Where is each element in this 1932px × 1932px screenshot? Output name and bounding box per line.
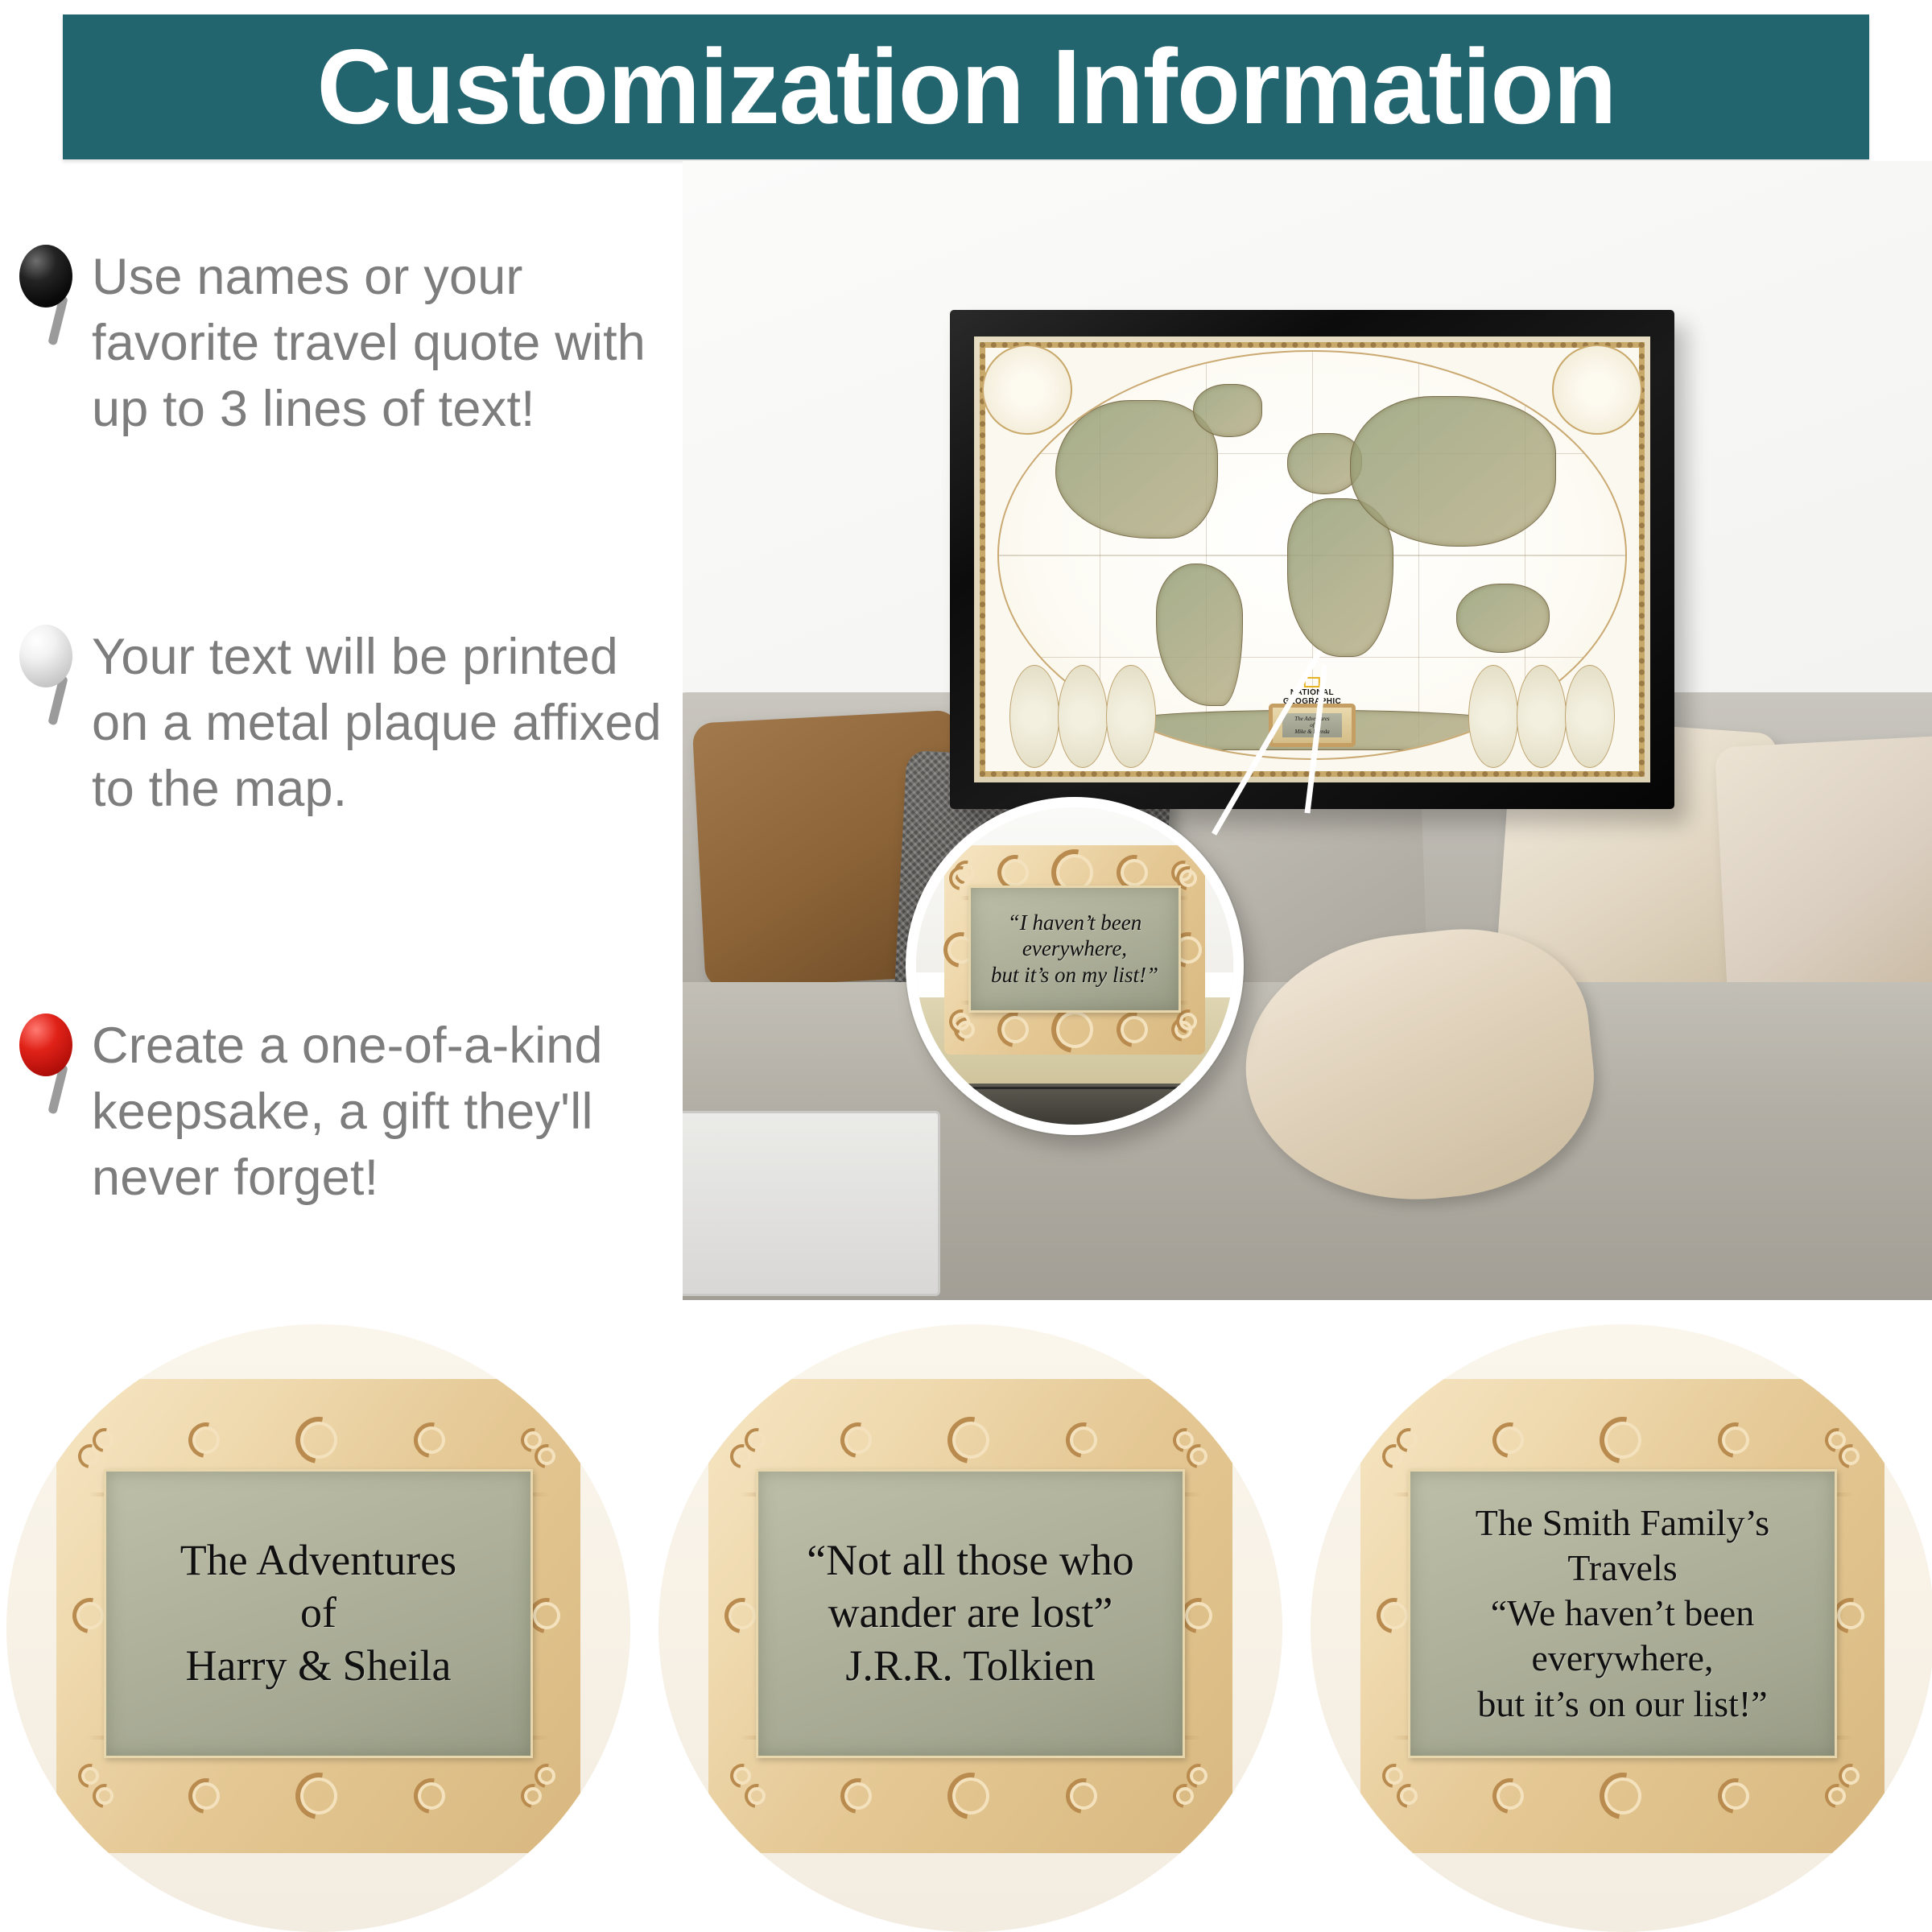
magnifier-plaque: “I haven’t been everywhere, but it’s on … (944, 845, 1204, 1055)
map-inset-vegetation-1 (1009, 665, 1059, 768)
continent-australia (1456, 584, 1550, 653)
magnifier-circle: “I haven’t been everywhere, but it’s on … (906, 797, 1244, 1135)
plaque-scroll-bottom (56, 1744, 580, 1848)
feature-bullet-3: Create a one-of-a-kind keepsake, a gift … (18, 1010, 678, 1212)
map-inset-vegetation-2 (1058, 665, 1108, 768)
plaque-scroll-bottom (708, 1744, 1232, 1848)
map-pin-black-icon (18, 242, 92, 338)
feature-bullet-3-text: Create a one-of-a-kind keepsake, a gift … (92, 1010, 678, 1212)
plaque-line-2: wander are lost” (828, 1588, 1113, 1637)
plaque-metal-plate: “I haven’t been everywhere, but it’s on … (968, 885, 1182, 1013)
plaque-line-3: Harry & Sheila (186, 1641, 452, 1690)
map-inset-south-polar (1552, 345, 1642, 435)
plaque-line-1: The Smith Family’s Travels (1476, 1502, 1769, 1588)
national-geographic-logo: NATIONAL GEOGRAPHIC (1283, 677, 1341, 706)
side-table (683, 1111, 940, 1296)
plaque-sample-tolkien: “Not all those who wander are lost” J.R.… (658, 1324, 1282, 1932)
page-title: Customization Information (316, 34, 1616, 140)
plaque-sample-names: The Adventures of Harry & Sheila (6, 1324, 630, 1932)
plaque-scroll-bottom (944, 1007, 1204, 1053)
pin-head (19, 245, 72, 308)
room-photo: NATIONAL GEOGRAPHIC The Adventures of Mi… (683, 161, 1932, 1300)
map-plaque-line-1: The Adventures (1294, 716, 1329, 722)
feature-bullet-2: Your text will be printed on a metal pla… (18, 621, 678, 823)
plaque-metal-plate: The Smith Family’s Travels “We haven’t b… (1408, 1469, 1838, 1758)
magnifier-plaque-line-1: “I haven’t been everywhere, (1008, 910, 1141, 961)
plaque-sample-row: The Adventures of Harry & Sheila (0, 1324, 1932, 1932)
magnifier-plaque-line-2: but it’s on my list!” (991, 963, 1158, 987)
continent-south-america (1156, 563, 1244, 706)
feature-bullet-2-text: Your text will be printed on a metal pla… (92, 621, 678, 823)
plaque-line-2: of (300, 1588, 336, 1637)
magnifier-pillow-background (916, 1084, 1233, 1125)
feature-bullet-1: Use names or your favorite travel quote … (18, 242, 678, 443)
map-inset-north-polar (982, 345, 1072, 435)
natgeo-rect-icon (1304, 677, 1320, 687)
map-pin-red-icon (18, 1010, 92, 1107)
natgeo-line-1: NATIONAL (1283, 689, 1341, 698)
map-pin-white-icon (18, 621, 92, 718)
continent-asia (1350, 396, 1556, 547)
plaque-metal-plate: The Adventures of Harry & Sheila (104, 1469, 534, 1758)
map-plaque-line-2: of (1310, 722, 1314, 729)
map-inset-population-3 (1565, 665, 1615, 768)
plaque-line-3: J.R.R. Tolkien (845, 1641, 1095, 1690)
map-mounted-plaque: The Adventures of Mike & Brenda (1269, 704, 1356, 747)
magnifier-plaque-text: “I haven’t been everywhere, but it’s on … (971, 910, 1179, 989)
map-plaque-text: The Adventures of Mike & Brenda (1282, 713, 1342, 737)
map-inset-population-2 (1517, 665, 1567, 768)
pin-head (19, 1013, 72, 1076)
plaque-text: “Not all those who wander are lost” J.R.… (790, 1534, 1151, 1694)
plaque-line-1: The Adventures (180, 1536, 456, 1584)
continent-greenland (1193, 384, 1261, 437)
plaque-metal-plate: “Not all those who wander are lost” J.R.… (756, 1469, 1186, 1758)
pin-head (19, 625, 72, 687)
header-banner: Customization Information (63, 14, 1869, 159)
map-plaque-line-3: Mike & Brenda (1294, 729, 1329, 735)
plaque-sample-family: The Smith Family’s Travels “We haven’t b… (1311, 1324, 1932, 1932)
magnifier-frame-edge (916, 1087, 1233, 1089)
plaque-scroll-bottom (1360, 1744, 1885, 1848)
plaque-line-2: “We haven’t been everywhere, (1491, 1592, 1755, 1678)
map-inset-population-1 (1468, 665, 1518, 768)
map-inset-vegetation-3 (1106, 665, 1156, 768)
continent-north-america (1055, 400, 1218, 539)
feature-bullet-1-text: Use names or your favorite travel quote … (92, 242, 678, 443)
plaque-line-3: but it’s on our list!” (1477, 1683, 1767, 1724)
sofa-pillow-cream-2 (1715, 734, 1932, 1005)
map-artwork: NATIONAL GEOGRAPHIC The Adventures of Mi… (974, 336, 1650, 782)
plaque-line-1: “Not all those who (807, 1536, 1133, 1584)
feature-bullet-list: Use names or your favorite travel quote … (0, 242, 684, 1288)
framed-world-map: NATIONAL GEOGRAPHIC The Adventures of Mi… (950, 310, 1674, 809)
plaque-text: The Adventures of Harry & Sheila (163, 1534, 474, 1694)
plaque-text: The Smith Family’s Travels “We haven’t b… (1410, 1501, 1835, 1727)
